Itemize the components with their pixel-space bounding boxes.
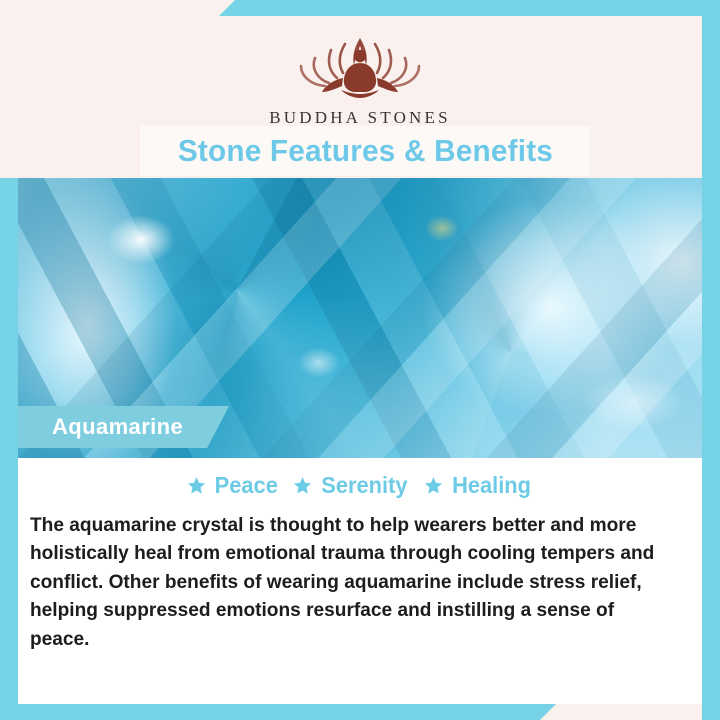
keyword-item-peace: Peace — [187, 472, 280, 499]
poster-card: BUDDHA STONES Stone Features & Benefits … — [18, 16, 702, 704]
keyword-label: Peace — [214, 472, 277, 499]
stone-name-label: Aquamarine — [18, 406, 229, 448]
brand-name: BUDDHA STONES — [18, 108, 702, 128]
frame-band-right — [702, 0, 720, 720]
keyword-label: Healing — [452, 472, 531, 499]
page-title: Stone Features & Benefits — [177, 133, 552, 169]
keyword-item-serenity: Serenity — [293, 472, 410, 499]
star-icon — [293, 476, 312, 495]
keyword-item-healing: Healing — [424, 472, 533, 499]
stone-name-text: Aquamarine — [52, 414, 183, 440]
frame-band-left — [0, 178, 18, 720]
lotus-meditation-icon — [275, 30, 445, 104]
poster-canvas: BUDDHA STONES Stone Features & Benefits … — [0, 0, 720, 720]
aquamarine-crystal-photo: Aquamarine — [18, 178, 702, 458]
title-banner: Stone Features & Benefits — [140, 126, 590, 176]
star-icon — [187, 476, 206, 495]
star-icon — [424, 476, 443, 495]
keyword-label: Serenity — [322, 472, 408, 499]
keyword-row: Peace Serenity Healing — [18, 472, 702, 499]
brand-logo: BUDDHA STONES — [18, 30, 702, 128]
benefits-paragraph: The aquamarine crystal is thought to hel… — [30, 511, 675, 653]
benefits-section: Peace Serenity Healing The aquamarine cr… — [18, 458, 702, 704]
